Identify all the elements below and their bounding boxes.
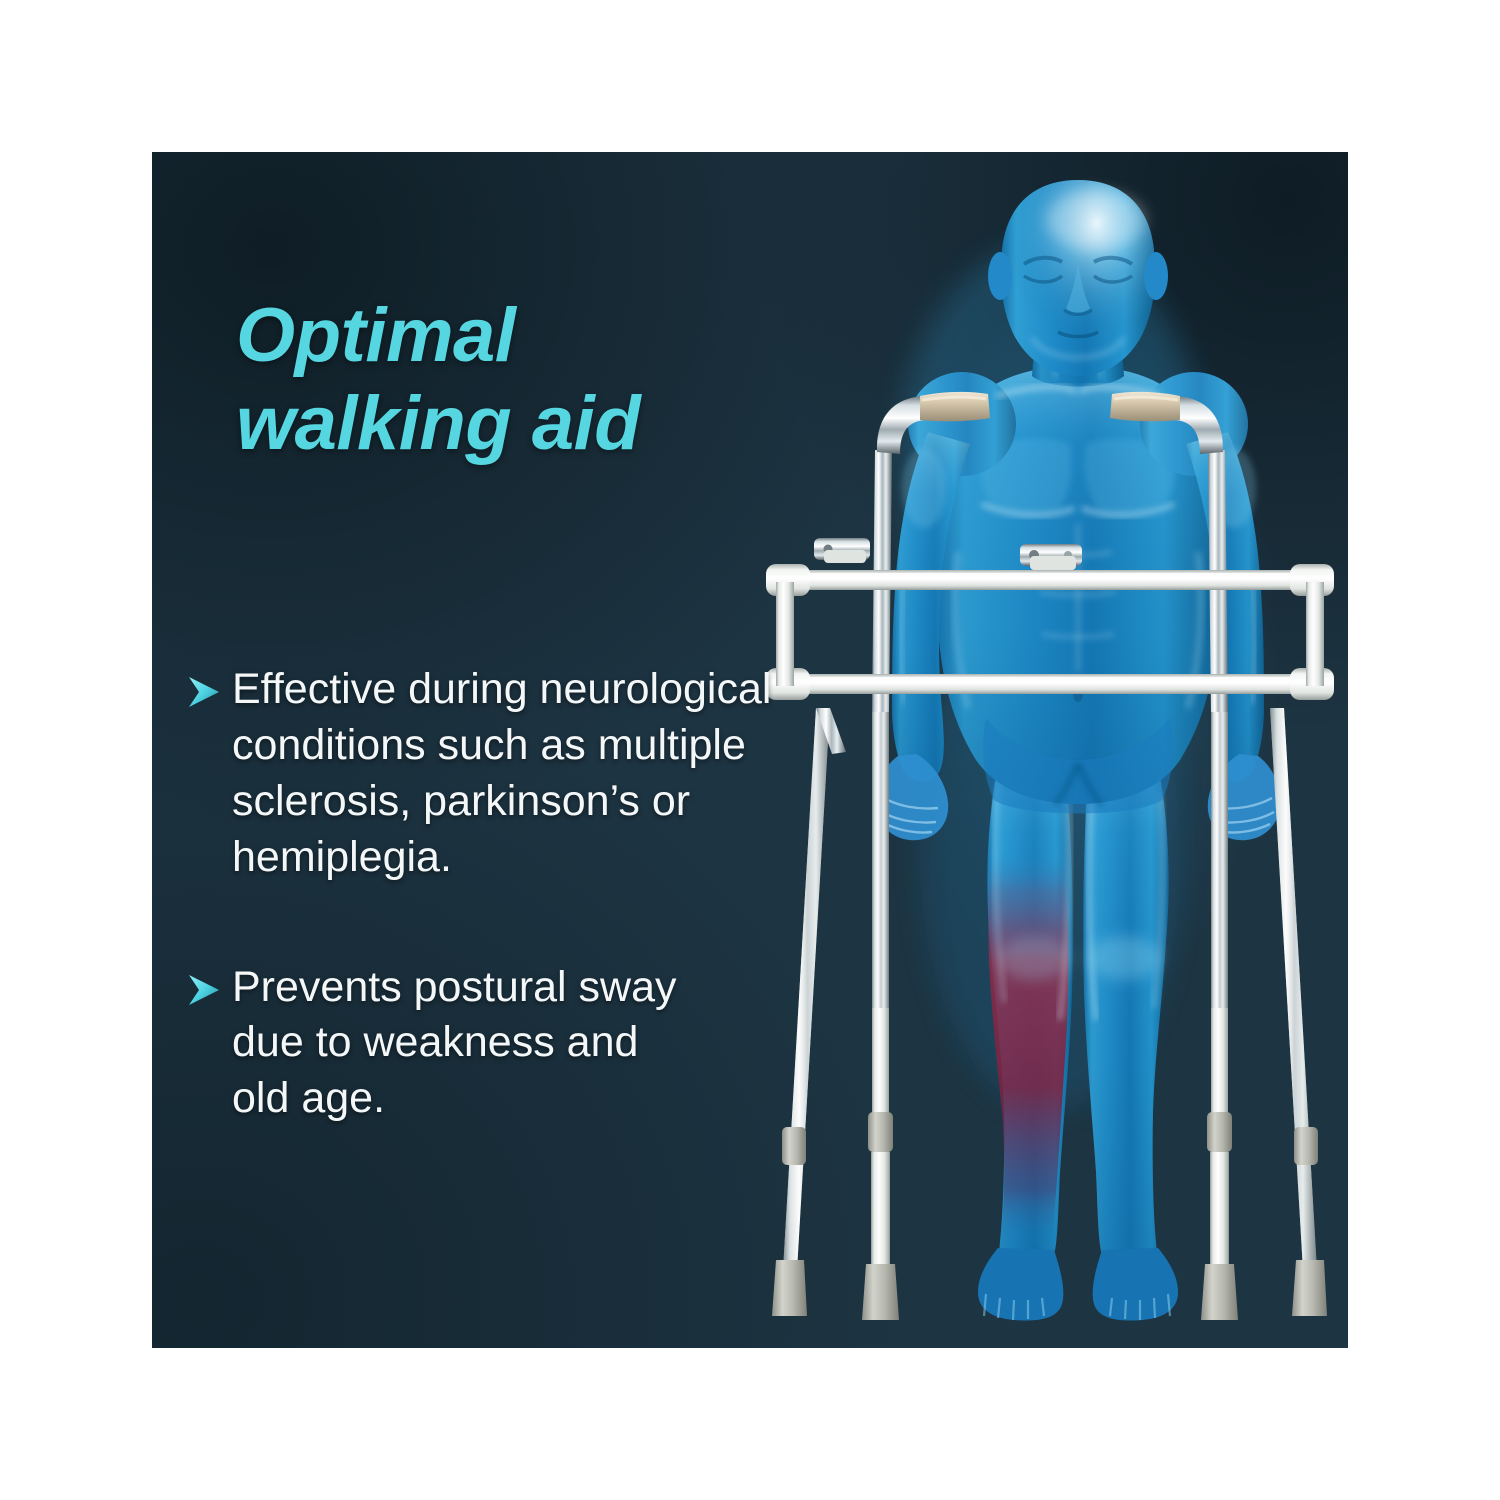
bullet-1-line-3: sclerosis, parkinson’s or <box>232 777 690 825</box>
bullet-1-line-2: conditions such as multiple <box>232 721 746 769</box>
list-item: Effective during neurological conditions… <box>182 662 862 886</box>
bullet-1-line-4: hemiplegia. <box>232 833 452 881</box>
list-item: Prevents postural sway due to weakness a… <box>182 960 862 1128</box>
bullet-1-line-1: Effective during neurological <box>232 665 771 713</box>
bullet-2-line-3: old age. <box>232 1074 385 1122</box>
arrow-bullet-icon <box>182 973 226 1007</box>
walker-collar-rear-right <box>1294 1127 1318 1165</box>
headline-line-2: walking aid <box>236 380 796 468</box>
arrow-bullet-icon <box>182 675 226 709</box>
list-item-text: Effective during neurological conditions… <box>232 662 862 886</box>
headline-line-1: Optimal <box>236 292 796 380</box>
walker-tip-front-left <box>862 1264 899 1320</box>
walker-collar-front-right <box>1207 1112 1232 1152</box>
feature-bullet-list: Effective during neurological conditions… <box>182 662 862 1201</box>
walker-tip-front-right <box>1201 1264 1238 1320</box>
promo-graphic: Optimal walking aid <box>0 0 1500 1500</box>
foot-right <box>1093 1248 1178 1320</box>
walker-collar-front-left <box>868 1112 893 1152</box>
walker-fold-latch-secondary <box>814 538 870 563</box>
page-title: Optimal walking aid <box>236 292 796 468</box>
walker-tip-rear-left <box>772 1260 807 1316</box>
bullet-2-line-1: Prevents postural sway <box>232 963 677 1011</box>
foot-left <box>978 1248 1063 1320</box>
promo-panel: Optimal walking aid <box>152 152 1348 1348</box>
pain-highlight-left-calf <box>988 852 1068 1244</box>
bullet-2-line-2: due to weakness and <box>232 1018 638 1066</box>
list-item-text: Prevents postural sway due to weakness a… <box>232 960 862 1128</box>
walker-tip-rear-right <box>1292 1260 1327 1316</box>
